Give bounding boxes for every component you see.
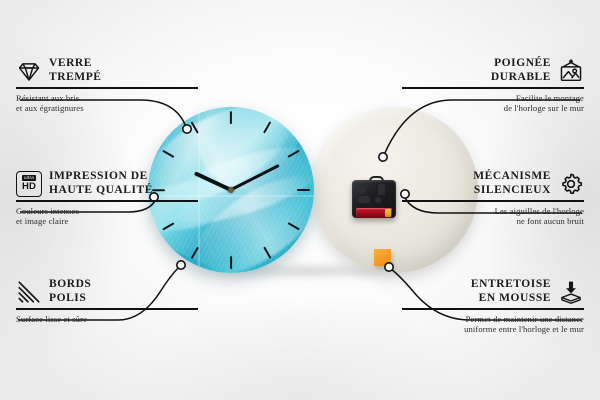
gear-icon — [558, 171, 584, 197]
callout-divider — [16, 308, 198, 310]
callout-description: Résistant aux briset aux égratignures — [16, 93, 198, 114]
mechanism-detail — [358, 196, 370, 203]
callout-header: MÉCANISMESILENCIEUX — [402, 170, 584, 197]
clock-tick — [297, 189, 310, 191]
callout-title: IMPRESSION DEHAUTE QUALITÉ — [49, 170, 153, 197]
callout-divider — [402, 308, 584, 310]
callout-title: VERRETREMPÉ — [49, 57, 102, 84]
polished-edges-icon — [16, 279, 42, 305]
battery-positive-tip — [385, 209, 391, 217]
callout-description: Permet de maintenir une distanceuniforme… — [402, 314, 584, 335]
callout-impression-haute-qualite: ultra HD IMPRESSION DEHAUTE QUALITÉ Coul… — [16, 170, 198, 227]
callout-title: POIGNÉEDURABLE — [491, 57, 551, 84]
clock-center-cap — [228, 187, 234, 193]
callout-poignee-durable: POIGNÉEDURABLE Facilite le montagede l'h… — [402, 57, 584, 114]
callout-verre-trempe: VERRETREMPÉ Résistant aux briset aux égr… — [16, 57, 198, 114]
callout-title: BORDSPOLIS — [49, 278, 91, 305]
callout-description: Les aiguilles de l'horlogene font aucun … — [402, 206, 584, 227]
callout-mecanisme-silencieux: MÉCANISMESILENCIEUX Les aiguilles de l'h… — [402, 170, 584, 227]
clock-tick — [230, 111, 232, 124]
clock-mechanism — [352, 176, 396, 218]
mechanism-detail — [375, 197, 381, 203]
callout-entretoise-en-mousse: ENTRETOISEEN MOUSSE Permet de maintenir … — [402, 278, 584, 335]
clock-tick — [230, 256, 232, 269]
ultra-hd-badge-bottom: HD — [22, 182, 36, 192]
callout-bords-polis: BORDSPOLIS Surface lisse et sûre — [16, 278, 198, 324]
hanging-frame-icon — [558, 58, 584, 84]
callout-divider — [402, 200, 584, 202]
mechanism-body — [352, 180, 396, 218]
ultra-hd-badge-icon: ultra HD — [16, 171, 42, 197]
callout-header: POIGNÉEDURABLE — [402, 57, 584, 84]
infographic-canvas: VERRETREMPÉ Résistant aux briset aux égr… — [0, 0, 600, 400]
callout-divider — [402, 87, 584, 89]
clock-battery — [356, 208, 392, 218]
mechanism-detail — [357, 185, 366, 194]
callout-divider — [16, 87, 198, 89]
callout-description: Couleurs intenseset image claire — [16, 206, 198, 227]
callout-description: Surface lisse et sûre — [16, 314, 198, 325]
callout-title: MÉCANISMESILENCIEUX — [473, 170, 551, 197]
callout-header: ENTRETOISEEN MOUSSE — [402, 278, 584, 305]
callout-header: BORDSPOLIS — [16, 278, 198, 305]
callout-title: ENTRETOISEEN MOUSSE — [471, 278, 551, 305]
foam-spacer-icon — [558, 279, 584, 305]
callout-header: ultra HD IMPRESSION DEHAUTE QUALITÉ — [16, 170, 198, 197]
diamond-icon — [16, 58, 42, 84]
foam-spacer — [374, 249, 391, 266]
mechanism-detail — [378, 184, 385, 195]
callout-description: Facilite le montagede l'horloge sur le m… — [402, 93, 584, 114]
callout-header: VERRETREMPÉ — [16, 57, 198, 84]
callout-divider — [16, 200, 198, 202]
